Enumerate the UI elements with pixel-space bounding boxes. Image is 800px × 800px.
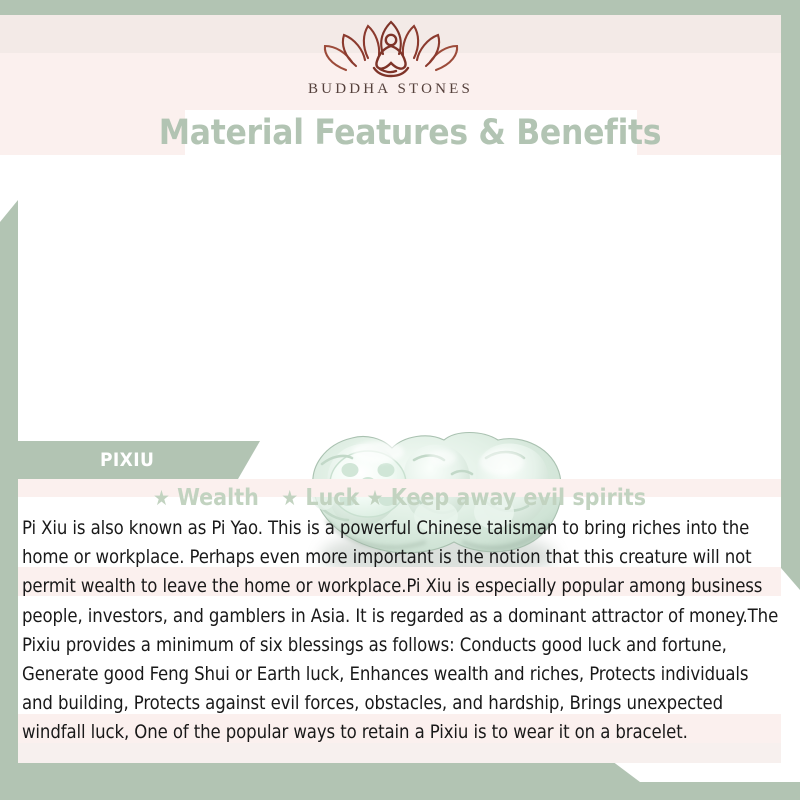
brand-name: BUDDHA STONES bbox=[308, 81, 473, 98]
page-title: Material Features & Benefits bbox=[120, 108, 700, 158]
star-icon: ★ bbox=[281, 486, 298, 510]
right-green-border bbox=[781, 0, 800, 590]
benefits-row: ★ Wealth ★ Luck ★ Keep away evil spirits bbox=[18, 484, 781, 512]
description-text: Pi Xiu is also known as Pi Yao. This is … bbox=[22, 514, 780, 748]
product-photo-area bbox=[18, 158, 781, 438]
benefit-wealth: Wealth bbox=[177, 485, 259, 511]
brand-logo: BUDDHA STONES bbox=[0, 18, 781, 108]
lotus-meditation-icon bbox=[316, 18, 466, 80]
star-icon: ★ bbox=[153, 486, 170, 510]
benefit-luck: Luck bbox=[305, 485, 359, 511]
top-green-border bbox=[0, 0, 800, 15]
product-label-banner: PIXIU bbox=[18, 441, 260, 479]
infographic-page: BUDDHA STONES Material Features & Benefi… bbox=[0, 0, 800, 800]
product-label-text: PIXIU bbox=[100, 449, 154, 471]
benefit-evil-spirits: Keep away evil spirits bbox=[391, 485, 646, 511]
star-icon: ★ bbox=[367, 486, 384, 510]
left-green-border bbox=[0, 200, 18, 800]
